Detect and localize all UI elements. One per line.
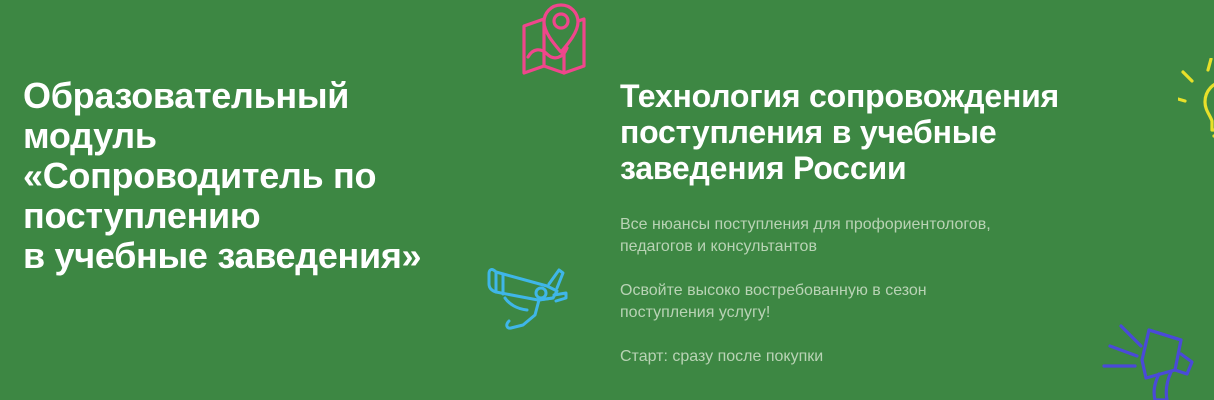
description-item-start-date: Старт: сразу после покупки (620, 346, 1120, 368)
left-text-column: Образовательный модуль «Сопроводитель по… (23, 76, 523, 276)
map-pin-icon (521, 2, 587, 76)
lightbulb-icon (1178, 58, 1214, 162)
promo-banner: Образовательный модуль «Сопроводитель по… (0, 0, 1214, 400)
subtitle: Технология сопровождения поступления в у… (620, 78, 1120, 186)
description-list: Все нюансы поступления для профориентоло… (620, 214, 1120, 368)
right-text-column: Технология сопровождения поступления в у… (620, 78, 1120, 368)
description-item: Все нюансы поступления для профориентоло… (620, 214, 1120, 258)
page-title: Образовательный модуль «Сопроводитель по… (23, 76, 523, 276)
description-item: Освойте высоко востребованную в сезон по… (620, 280, 1120, 324)
